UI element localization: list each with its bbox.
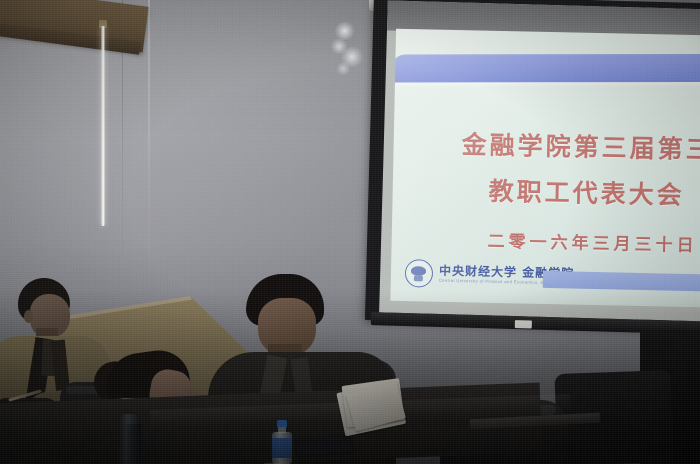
projected-slide: 金融学院第三届第三 教职工代表大会 二零一六年三月三十日 中央财经大学 金融学院…	[390, 29, 700, 308]
university-seal-icon	[405, 259, 434, 288]
water-bottle[interactable]	[272, 420, 292, 464]
wall-seam	[148, 0, 150, 300]
slide-header-band	[391, 54, 700, 83]
slide-date-line: 二零一六年三月三十日	[487, 227, 697, 256]
ear	[24, 310, 33, 323]
slide-title-block: 金融学院第三届第三 教职工代表大会	[392, 124, 700, 213]
slide-title-line-2: 教职工代表大会	[488, 172, 700, 213]
screen-surface: 金融学院第三届第三 教职工代表大会 二零一六年三月三十日 中央财经大学 金融学院…	[379, 0, 700, 321]
thermos-flask[interactable]	[118, 414, 141, 464]
slide-title-line-1: 金融学院第三届第三	[461, 125, 700, 166]
photo-scene: 金融学院第三届第三 教职工代表大会 二零一六年三月三十日 中央财经大学 金融学院…	[0, 0, 700, 464]
projection-screen: 金融学院第三届第三 教职工代表大会 二零一六年三月三十日 中央财经大学 金融学院…	[365, 0, 700, 343]
screen-pull-tab[interactable]	[515, 320, 532, 328]
fluorescent-light-tube	[101, 26, 105, 226]
